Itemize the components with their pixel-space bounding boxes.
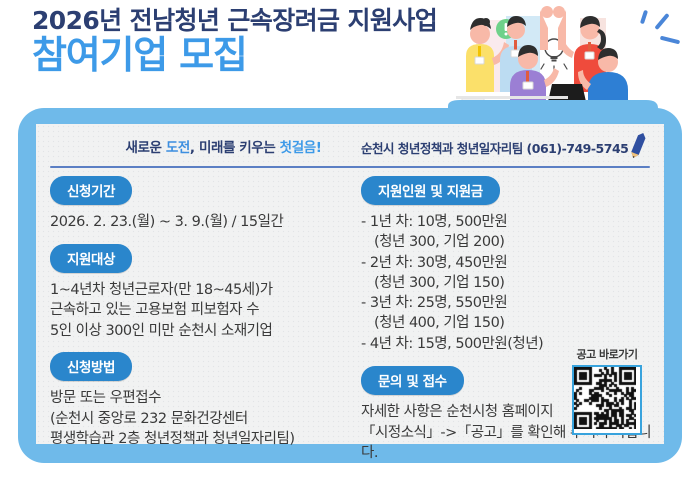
badge-how-to-apply: 신청방법 [50, 352, 132, 381]
how-to-apply-body: 방문 또는 우편접수 (순천시 중앙로 232 문화건강센터 평생학습관 2층 … [50, 388, 350, 450]
tagline-part-2: 도전 [166, 140, 190, 156]
badge-inquiry: 문의 및 접수 [361, 366, 464, 395]
poster-root: 2026년 전남청년 근속장려금 지원사업 참여기업 모집 [0, 0, 700, 477]
illustration-svg [448, 2, 658, 112]
tagline-part-4: 첫걸음! [280, 140, 322, 156]
application-period-body: 2026. 2. 23.(월) ~ 3. 9.(월) / 15일간 [50, 212, 350, 233]
title-line-2: 참여기업 모집 [32, 36, 437, 74]
left-column: 신청기간 2026. 2. 23.(월) ~ 3. 9.(월) / 15일간 지… [50, 176, 350, 461]
badge-eligibility: 지원대상 [50, 244, 132, 273]
qr-section: 공고 바로가기 [566, 346, 648, 435]
eligibility-body: 1~4년차 청년근로자(만 18~45세)가 근속하고 있는 고용보험 피보험자… [50, 280, 350, 342]
badge-application-period: 신청기간 [50, 176, 132, 205]
support-item-main: - 3년 차: 25명, 550만원 [361, 293, 656, 313]
support-item-sub: (청년 400, 기업 150) [361, 313, 656, 333]
decorative-dash-icon [660, 36, 680, 45]
qr-label: 공고 바로가기 [566, 346, 648, 362]
section-support-amount: 지원인원 및 지원금 - 1년 차: 10명, 500만원 (청년 300, 기… [361, 176, 656, 354]
qr-code[interactable] [572, 365, 642, 435]
support-item-sub: (청년 300, 기업 150) [361, 273, 656, 293]
tagline-part-3: , 미래를 키우는 [190, 140, 280, 156]
qr-code-canvas [574, 367, 636, 429]
support-item-main: - 1년 차: 10명, 500만원 [361, 212, 656, 232]
section-how-to-apply: 신청방법 방문 또는 우편접수 (순천시 중앙로 232 문화건강센터 평생학습… [50, 352, 350, 450]
section-divider [50, 166, 650, 168]
tagline-part-1: 새로운 [126, 140, 166, 156]
section-eligibility: 지원대상 1~4년차 청년근로자(만 18~45세)가 근속하고 있는 고용보험… [50, 244, 350, 342]
support-item-main: - 2년 차: 30명, 450만원 [361, 253, 656, 273]
badge-support-amount: 지원인원 및 지원금 [361, 176, 500, 205]
contact-line: 순천시 청년정책과 청년일자리팀 (061)-749-5745 [361, 138, 633, 157]
tagline: 새로운 도전, 미래를 키우는 첫걸음! [86, 136, 361, 156]
team-people-illustration [448, 2, 658, 112]
title-line-1: 2026년 전남청년 근속장려금 지원사업 [32, 8, 437, 33]
section-application-period: 신청기간 2026. 2. 23.(월) ~ 3. 9.(월) / 15일간 [50, 176, 350, 233]
poster-header: 2026년 전남청년 근속장려금 지원사업 참여기업 모집 [0, 0, 700, 112]
content-panel: 새로운 도전, 미래를 키우는 첫걸음! 순천시 청년정책과 청년일자리팀 (0… [36, 124, 664, 444]
page-title: 2026년 전남청년 근속장려금 지원사업 참여기업 모집 [32, 8, 437, 74]
support-item-sub: (청년 300, 기업 200) [361, 232, 656, 252]
